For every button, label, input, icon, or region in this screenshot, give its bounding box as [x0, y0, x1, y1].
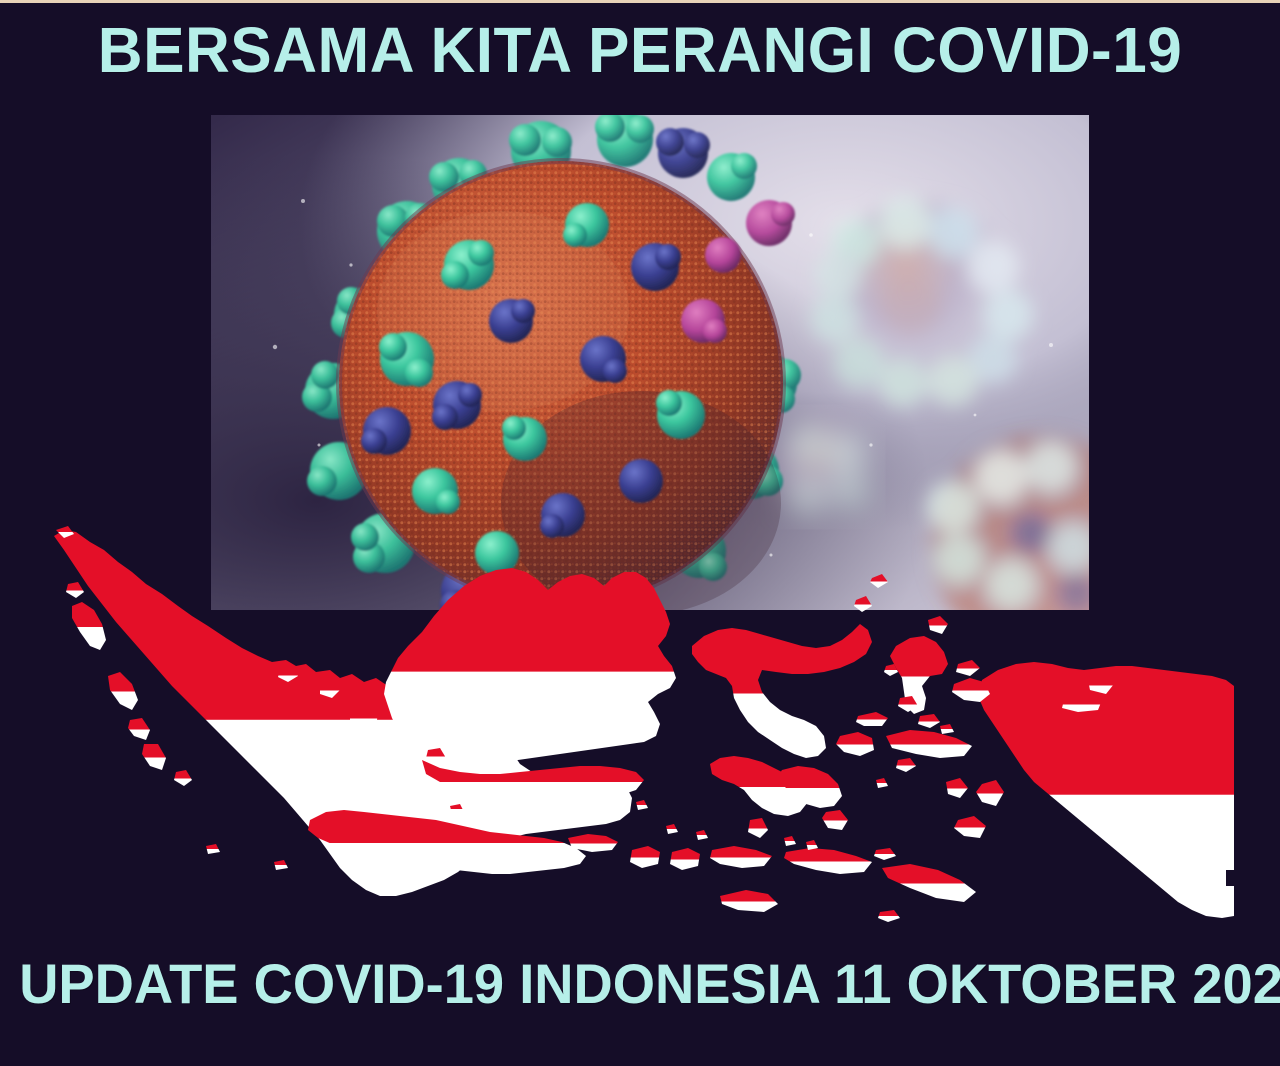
island-sumbawa	[710, 846, 772, 868]
island-timor	[882, 864, 976, 902]
island-buton	[822, 810, 848, 830]
background-virion-small	[771, 415, 875, 519]
island-sangihe	[854, 596, 872, 612]
island-simeulue	[66, 582, 84, 598]
island-flores	[784, 848, 872, 874]
page-title: BERSAMA KITA PERANGI COVID-19	[19, 14, 1261, 86]
island-rote	[878, 910, 900, 922]
island-ambon	[896, 758, 916, 772]
speck-4	[806, 840, 818, 850]
speck-10	[940, 724, 954, 734]
island-morotai	[928, 616, 948, 634]
region-kalimantan	[384, 568, 676, 768]
island-halmahera	[890, 636, 948, 714]
speck-9	[206, 844, 220, 854]
island-nias	[72, 602, 106, 650]
island-bali	[630, 846, 660, 868]
island-waigeo	[956, 660, 980, 676]
island-sumba	[720, 890, 778, 912]
speck-3	[784, 836, 796, 846]
indonesia-flag-map	[20, 520, 1235, 960]
island-alor	[874, 848, 896, 860]
island-talaud	[870, 574, 888, 588]
island-buru	[836, 732, 874, 756]
island-aru	[976, 780, 1004, 806]
island-enggano	[174, 770, 192, 786]
island-lombok	[670, 848, 700, 870]
speck-1	[666, 824, 678, 834]
top-edge-strip	[0, 0, 1280, 3]
poster-canvas: BERSAMA KITA PERANGI COVID-19	[0, 0, 1280, 1066]
island-papua-notch	[1226, 870, 1234, 886]
island-pagai	[142, 744, 166, 770]
page-subtitle: UPDATE COVID-19 INDONESIA 11 OKTOBER 202…	[19, 952, 1261, 1016]
island-sula	[856, 712, 888, 726]
speck-5	[636, 800, 648, 810]
speck-2	[696, 830, 708, 840]
island-kai	[946, 778, 968, 798]
island-sipora	[128, 718, 150, 740]
island-siberut	[108, 672, 138, 710]
speck-8	[274, 860, 288, 870]
island-obi	[918, 714, 940, 728]
speck-6	[876, 778, 888, 788]
region-papua	[978, 662, 1234, 918]
indonesia-map-svg	[20, 520, 1235, 960]
island-selayar	[748, 818, 768, 838]
island-seram	[886, 730, 972, 758]
archipelago-landmass	[54, 526, 1234, 922]
island-tanimbar	[954, 816, 986, 838]
